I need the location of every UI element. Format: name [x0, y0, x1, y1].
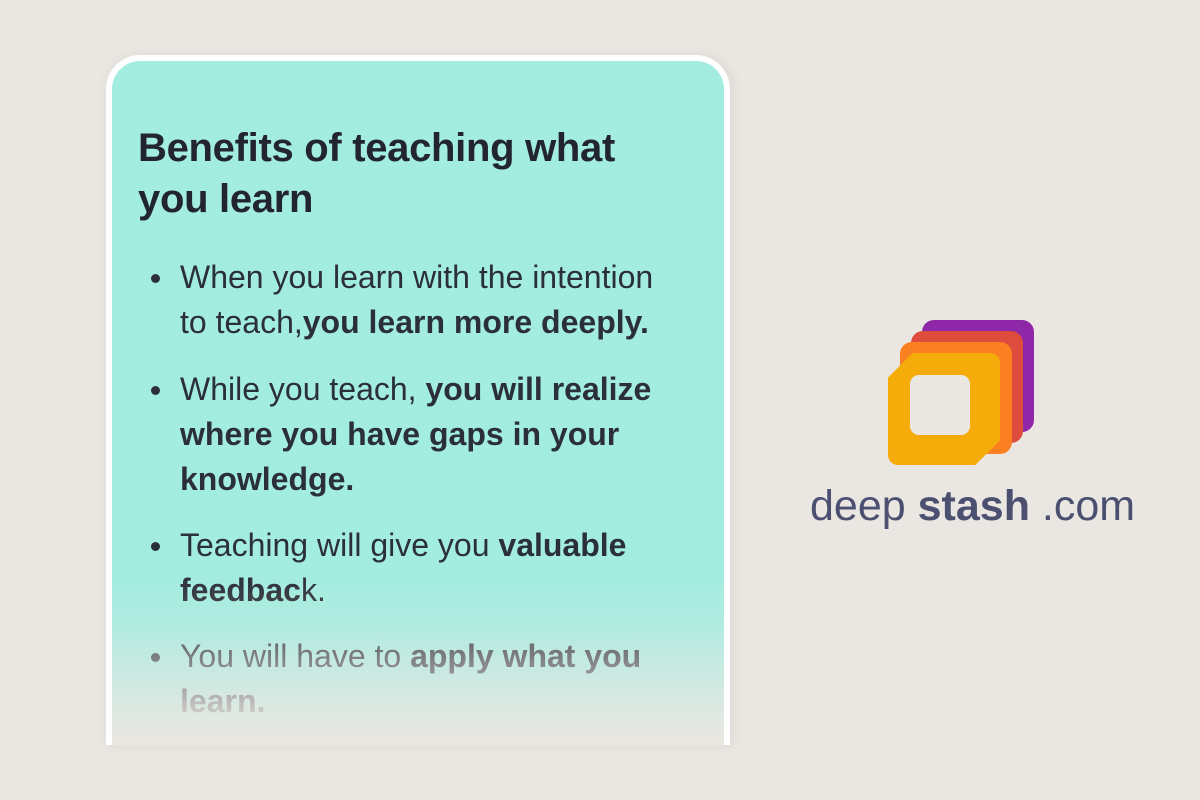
page-title: Benefits of teaching what you learn: [138, 123, 678, 225]
wordmark-dotcom: .com: [1042, 482, 1135, 530]
list-item: Teaching will give you valuable feedback…: [138, 523, 668, 613]
card-body: Benefits of teaching what you learn When…: [112, 61, 724, 745]
idea-card[interactable]: Benefits of teaching what you learn When…: [106, 55, 734, 755]
stacked-squares-icon: [888, 320, 1034, 466]
list-item: When you learn with the intention to tea…: [138, 255, 668, 345]
wordmark-deep: deep: [810, 482, 906, 530]
benefits-list: When you learn with the intention to tea…: [138, 255, 694, 724]
brand-wordmark: deep stash .com: [810, 485, 1130, 528]
wordmark-stash: stash: [918, 482, 1030, 530]
screenshot-canvas: Benefits of teaching what you learn When…: [0, 0, 1200, 800]
list-item: While you teach, you will realize where …: [138, 367, 668, 502]
logo-layer-amber: [888, 353, 1000, 465]
list-item: You will have to apply what you learn.: [138, 634, 668, 724]
brand-block: deep stash .com: [810, 310, 1130, 550]
card-content: Benefits of teaching what you learn When…: [112, 61, 724, 745]
